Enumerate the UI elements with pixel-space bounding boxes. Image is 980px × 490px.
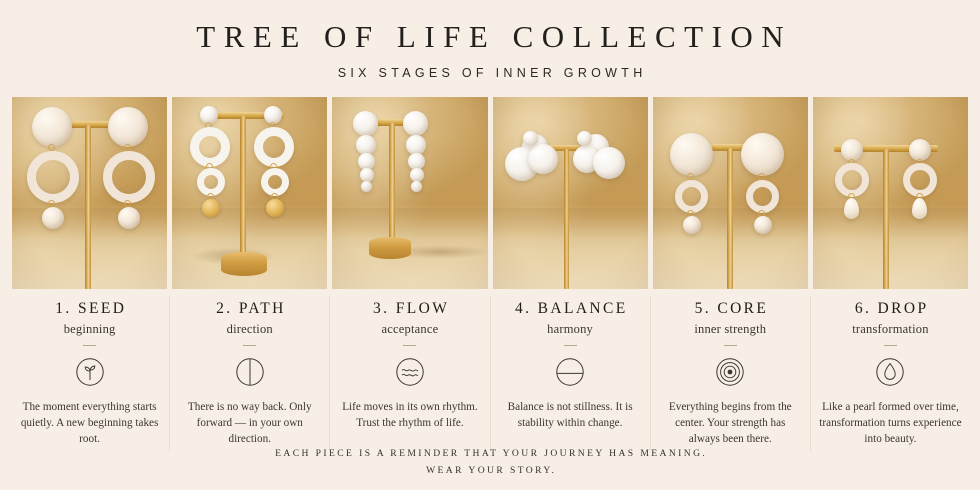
photo-vignette [172,97,327,289]
stage-card-core[interactable]: 5. CORE inner strength Everything begins… [653,97,808,448]
divider-dash [884,345,897,346]
stages-grid: 1. SEED beginning The moment everything … [0,97,980,448]
page-subtitle: SIX STAGES OF INNER GROWTH [0,67,980,81]
stage-description: Life moves in its own rhythm. Trust the … [332,400,487,432]
page-title: TREE OF LIFE COLLECTION [0,20,980,54]
stage-keyword: direction [227,322,273,337]
seedling-icon [73,355,107,389]
divider-dash [724,345,737,346]
product-photo-drop [813,97,968,289]
product-photo-seed [12,97,167,289]
stage-keyword: acceptance [382,322,439,337]
stage-title: 6. DROP [852,300,928,318]
stage-card-balance[interactable]: 4. BALANCE harmony Balance is not stilln… [493,97,648,448]
stage-keyword: beginning [64,322,116,337]
product-photo-balance [493,97,648,289]
waves-in-circle-icon [393,355,427,389]
photo-vignette [653,97,808,289]
water-drop-icon [873,355,907,389]
divider-dash [564,345,577,346]
stage-title: 3. FLOW [371,300,450,318]
stage-description: The moment everything starts quietly. A … [12,400,167,448]
concentric-circles-icon [713,355,747,389]
photo-vignette [12,97,167,289]
divider-dash [243,345,256,346]
stage-keyword: inner strength [694,322,766,337]
stage-title: 2. PATH [214,300,286,318]
stage-description: Balance is not stillness. It is stabilit… [493,400,648,432]
stage-description: There is no way back. Only forward — in … [172,400,327,448]
footer-signoff: WEAR YOUR STORY. [0,465,980,476]
poster-footer: EACH PIECE IS A REMINDER THAT YOUR JOURN… [0,448,980,476]
product-photo-path [172,97,327,289]
circle-vertical-line-icon [233,355,267,389]
stage-keyword: transformation [852,322,928,337]
stage-card-seed[interactable]: 1. SEED beginning The moment everything … [12,97,167,448]
footer-tagline: EACH PIECE IS A REMINDER THAT YOUR JOURN… [0,448,980,459]
photo-vignette [813,97,968,289]
stage-title: 5. CORE [692,300,768,318]
collection-poster: TREE OF LIFE COLLECTION SIX STAGES OF IN… [0,0,980,490]
stage-title: 1. SEED [53,300,126,318]
stage-card-flow[interactable]: 3. FLOW acceptance Life moves in its own… [332,97,487,448]
product-photo-flow [332,97,487,289]
divider-dash [403,345,416,346]
stage-title: 4. BALANCE [513,300,628,318]
product-photo-core [653,97,808,289]
stage-card-path[interactable]: 2. PATH direction There is no way back. … [172,97,327,448]
photo-vignette [493,97,648,289]
stage-keyword: harmony [547,322,593,337]
photo-vignette [332,97,487,289]
circle-horizontal-line-icon [553,355,587,389]
stage-description: Like a pearl formed over time, transform… [813,400,968,448]
poster-header: TREE OF LIFE COLLECTION SIX STAGES OF IN… [0,0,980,81]
divider-dash [83,345,96,346]
stage-description: Everything begins from the center. Your … [653,400,808,448]
stage-card-drop[interactable]: 6. DROP transformation Like a pearl form… [813,97,968,448]
